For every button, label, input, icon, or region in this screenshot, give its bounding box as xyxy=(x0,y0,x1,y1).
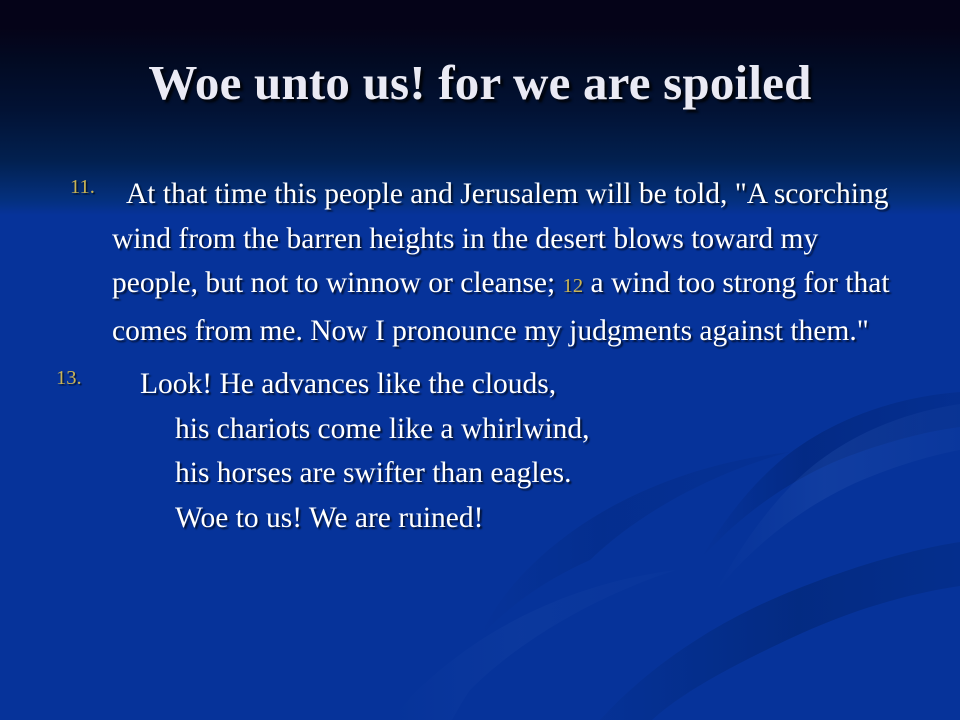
verse-marker-13: 13. xyxy=(56,368,82,388)
scripture-paragraph-13: 13.Look! He advances like the clouds,his… xyxy=(0,362,960,540)
poetry-line: Woe to us! We are ruined! xyxy=(140,496,920,541)
scripture-paragraph-11: 11.At that time this people and Jerusale… xyxy=(0,172,960,353)
inline-verse-number-12: 12 xyxy=(563,275,584,297)
poetry-line: Look! He advances like the clouds, xyxy=(140,368,556,400)
slide-title: Woe unto us! for we are spoiled xyxy=(0,57,960,108)
slide-body: 11.At that time this people and Jerusale… xyxy=(0,172,960,570)
presentation-slide: Woe unto us! for we are spoiled 11.At th… xyxy=(0,0,960,720)
poetry-line: his chariots come like a whirlwind, xyxy=(140,407,920,452)
verse-marker-11: 11. xyxy=(56,177,95,197)
poetry-line: his horses are swifter than eagles. xyxy=(140,451,920,496)
